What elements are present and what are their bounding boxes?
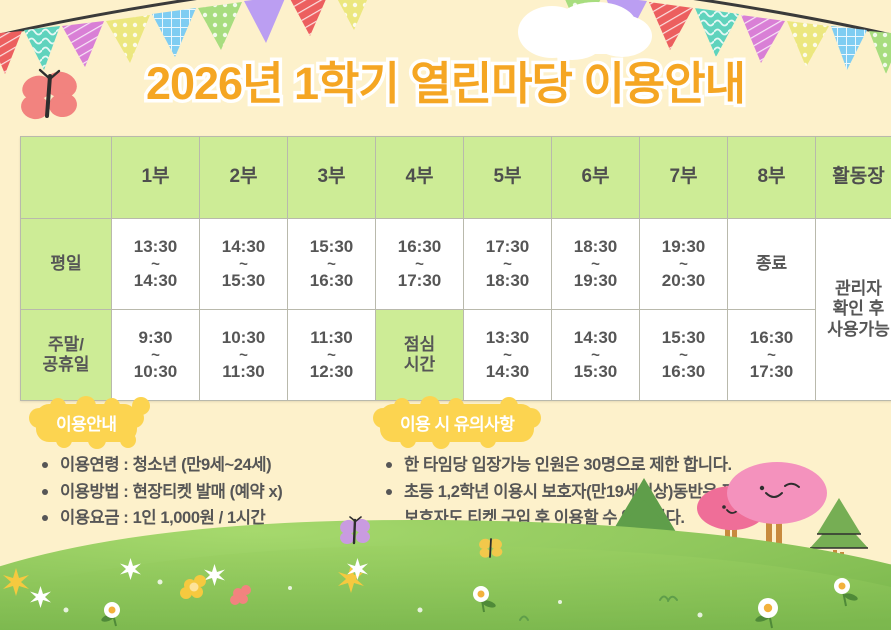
cell-weekday-3: 15:30 ~ 16:30	[288, 219, 376, 310]
time-end: 11:30	[201, 362, 286, 382]
tilde-separator: ~	[289, 348, 374, 363]
time-end: 10:30	[113, 362, 198, 382]
usage-info-badge: 이용안내	[36, 404, 137, 442]
cell-weekend-7: 15:30 ~ 16:30	[640, 310, 728, 401]
list-item: 이용요금 : 1인 1,000원 / 1시간	[42, 505, 378, 532]
lunch-line-1: 점심	[377, 335, 462, 355]
time-start: 14:30	[553, 328, 638, 348]
cell-weekday-7: 19:30 ~ 20:30	[640, 219, 728, 310]
cautions-section: 이용 시 유의사항 한 타임당 입장가능 인원은 30명으로 제한 합니다. 초…	[372, 404, 872, 532]
row-label-weekend: 주말/ 공휴일	[21, 310, 112, 401]
row-label-line-2: 공휴일	[22, 355, 110, 375]
list-item: 한 타임당 입장가능 인원은 30명으로 제한 합니다.	[386, 452, 872, 479]
cell-weekday-8: 종료	[728, 219, 816, 310]
table-header-row: 1부 2부 3부 4부 5부 6부 7부 8부 활동장	[21, 137, 891, 219]
table-row-weekend: 주말/ 공휴일 9:30 ~ 10:30 10:30 ~ 11:30 11:30…	[21, 310, 891, 401]
table-row-weekday: 평일 13:30 ~ 14:30 14:30 ~ 15:30 15:30 ~ 1…	[21, 219, 891, 310]
flowers-decoration	[3, 558, 859, 628]
cell-weekend-5: 13:30 ~ 14:30	[464, 310, 552, 401]
header-cell-8: 8부	[728, 137, 816, 219]
activity-line-2: 확인 후	[817, 299, 891, 319]
tilde-separator: ~	[729, 348, 814, 363]
cell-weekday-6: 18:30 ~ 19:30	[552, 219, 640, 310]
time-start: 15:30	[289, 237, 374, 257]
row-label-line-1: 주말/	[22, 335, 110, 355]
tilde-separator: ~	[113, 348, 198, 363]
list-item: 이용방법 : 현장티켓 발매 (예약 x)	[42, 479, 378, 506]
cell-weekday-4: 16:30 ~ 17:30	[376, 219, 464, 310]
list-item: 초등 1,2학년 이용시 보호자(만19세이상)동반은 필수입니다.	[386, 479, 872, 506]
time-end: 15:30	[201, 271, 286, 291]
header-cell-6: 6부	[552, 137, 640, 219]
time-start: 16:30	[729, 328, 814, 348]
time-start: 17:30	[465, 237, 550, 257]
usage-info-section: 이용안내 이용연령 : 청소년 (만9세~24세) 이용방법 : 현장티켓 발매…	[28, 404, 378, 532]
header-cell-3: 3부	[288, 137, 376, 219]
time-start: 19:30	[641, 237, 726, 257]
header-cell-1: 1부	[112, 137, 200, 219]
time-end: 15:30	[553, 362, 638, 382]
cell-weekend-6: 14:30 ~ 15:30	[552, 310, 640, 401]
tilde-separator: ~	[641, 257, 726, 272]
activity-line-3: 사용가능	[817, 320, 891, 340]
cell-weekday-1: 13:30 ~ 14:30	[112, 219, 200, 310]
time-end: 16:30	[641, 362, 726, 382]
cell-weekday-2: 14:30 ~ 15:30	[200, 219, 288, 310]
time-end: 14:30	[465, 362, 550, 382]
cautions-list: 한 타임당 입장가능 인원은 30명으로 제한 합니다. 초등 1,2학년 이용…	[372, 452, 872, 532]
header-cell-blank	[21, 137, 112, 219]
list-item-continuation: 보호자도 티켓 구입 후 이용할 수 있습니다.	[386, 505, 872, 532]
tilde-separator: ~	[553, 348, 638, 363]
cell-weekend-1: 9:30 ~ 10:30	[112, 310, 200, 401]
time-end: 14:30	[113, 271, 198, 291]
time-end: 17:30	[729, 362, 814, 382]
list-item: 이용연령 : 청소년 (만9세~24세)	[42, 452, 378, 479]
time-start: 14:30	[201, 237, 286, 257]
time-start: 18:30	[553, 237, 638, 257]
time-start: 13:30	[465, 328, 550, 348]
header-cell-activity: 활동장	[816, 137, 891, 219]
tilde-separator: ~	[465, 257, 550, 272]
cell-activity-note: 관리자 확인 후 사용가능	[816, 219, 891, 401]
cell-weekend-3: 11:30 ~ 12:30	[288, 310, 376, 401]
row-label-weekday: 평일	[21, 219, 112, 310]
time-start: 13:30	[113, 237, 198, 257]
time-start: 9:30	[113, 328, 198, 348]
cell-weekend-8: 16:30 ~ 17:30	[728, 310, 816, 401]
time-start: 15:30	[641, 328, 726, 348]
cell-weekday-5: 17:30 ~ 18:30	[464, 219, 552, 310]
time-start: 10:30	[201, 328, 286, 348]
header-cell-2: 2부	[200, 137, 288, 219]
cautions-badge: 이용 시 유의사항	[380, 404, 534, 442]
time-end: 16:30	[289, 271, 374, 291]
cell-weekend-2: 10:30 ~ 11:30	[200, 310, 288, 401]
butterfly-yellow-icon	[478, 536, 504, 560]
time-end: 18:30	[465, 271, 550, 291]
tilde-separator: ~	[553, 257, 638, 272]
time-end: 17:30	[377, 271, 462, 291]
tilde-separator: ~	[201, 257, 286, 272]
time-start: 16:30	[377, 237, 462, 257]
time-start: 11:30	[289, 328, 374, 348]
tilde-separator: ~	[465, 348, 550, 363]
page-title: 2026년 1학기 열린마당 이용안내	[146, 47, 745, 112]
cautions-badge-label: 이용 시 유의사항	[400, 415, 514, 434]
header-cell-7: 7부	[640, 137, 728, 219]
tilde-separator: ~	[113, 257, 198, 272]
cell-weekend-4-lunch: 점심 시간	[376, 310, 464, 401]
tilde-separator: ~	[641, 348, 726, 363]
time-end: 20:30	[641, 271, 726, 291]
lunch-line-2: 시간	[377, 355, 462, 375]
tilde-separator: ~	[377, 257, 462, 272]
activity-line-1: 관리자	[817, 279, 891, 299]
usage-info-badge-label: 이용안내	[56, 415, 117, 434]
schedule-table-wrap: 1부 2부 3부 4부 5부 6부 7부 8부 활동장 평일 13:30 ~ 1…	[20, 136, 871, 401]
header-cell-4: 4부	[376, 137, 464, 219]
schedule-table: 1부 2부 3부 4부 5부 6부 7부 8부 활동장 평일 13:30 ~ 1…	[20, 136, 891, 401]
time-end: 19:30	[553, 271, 638, 291]
poster-root: 2026년 1학기 열린마당 이용안내 1부 2부 3부 4부 5부 6부 7부…	[0, 0, 891, 630]
header-cell-5: 5부	[464, 137, 552, 219]
tilde-separator: ~	[201, 348, 286, 363]
time-end: 12:30	[289, 362, 374, 382]
tilde-separator: ~	[289, 257, 374, 272]
poster-title-wrap: 2026년 1학기 열린마당 이용안내	[0, 47, 891, 112]
usage-info-list: 이용연령 : 청소년 (만9세~24세) 이용방법 : 현장티켓 발매 (예약 …	[28, 452, 378, 532]
